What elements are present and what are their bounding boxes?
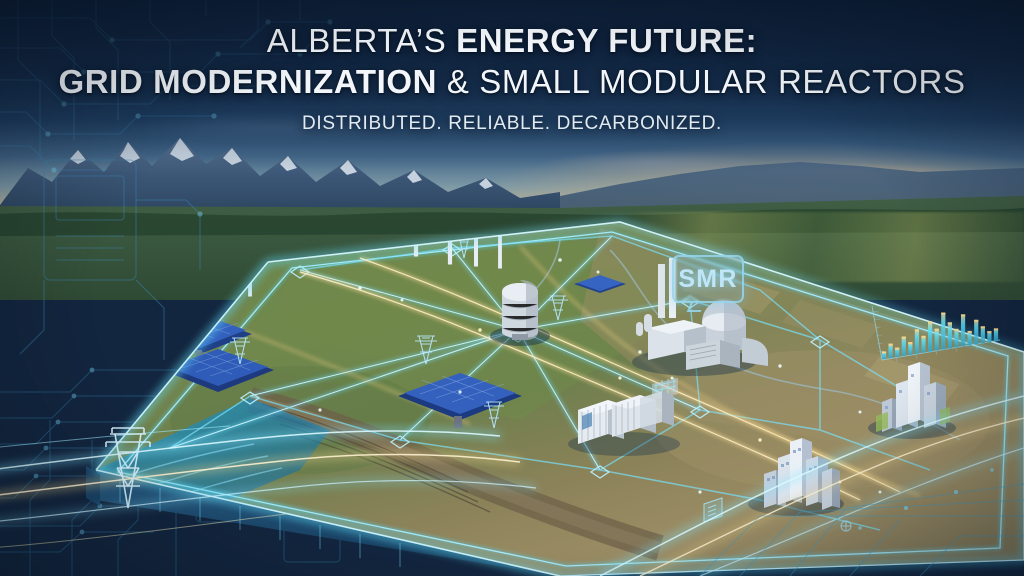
- chart-bar-cap: [921, 336, 925, 338]
- chart-bar-cap: [987, 331, 991, 333]
- chart-bar-cap: [948, 322, 952, 324]
- smr-callout[interactable]: SMR: [672, 255, 744, 303]
- chart-bar-cap: [888, 344, 892, 346]
- chart-bar-cap: [915, 329, 919, 331]
- chart-bar: [928, 321, 932, 351]
- chart-bar: [921, 336, 925, 353]
- chart-bar: [935, 329, 939, 351]
- chart-bar: [941, 313, 945, 350]
- chart-bars: [882, 313, 998, 359]
- chart-bar-cap: [908, 342, 912, 344]
- chart-bar-cap: [928, 321, 932, 323]
- chart-bar: [961, 314, 965, 346]
- poster-canvas: SMR ALBERTA’S ENERGY FUTURE: GRID MODER: [0, 0, 1024, 576]
- chart-bar-cap: [941, 313, 945, 315]
- chart-bar: [981, 326, 985, 343]
- chart-bar-cap: [994, 328, 998, 330]
- chart-bar: [902, 337, 906, 356]
- chart-bar: [968, 331, 972, 345]
- chart-bar-cap: [935, 329, 939, 331]
- chart-bar: [954, 329, 958, 347]
- smr-callout-label: SMR: [672, 255, 744, 303]
- chart-bar-cap: [968, 331, 972, 333]
- chart-bar: [974, 320, 978, 344]
- chart-bar: [915, 329, 919, 353]
- chart-bar: [888, 344, 892, 358]
- chart-bar-cap: [974, 320, 978, 322]
- chart-bar-cap: [895, 348, 899, 350]
- hydrogen-icon: [841, 521, 851, 531]
- chart-bar-cap: [981, 326, 985, 328]
- chart-bar-cap: [954, 329, 958, 331]
- chart-bar-cap: [882, 351, 886, 353]
- isometric-terrain-slab: [0, 0, 1024, 576]
- chart-bar: [948, 322, 952, 348]
- chart-bar-cap: [961, 314, 965, 316]
- holographic-bar-chart: [866, 296, 1006, 372]
- chart-bar-cap: [902, 337, 906, 339]
